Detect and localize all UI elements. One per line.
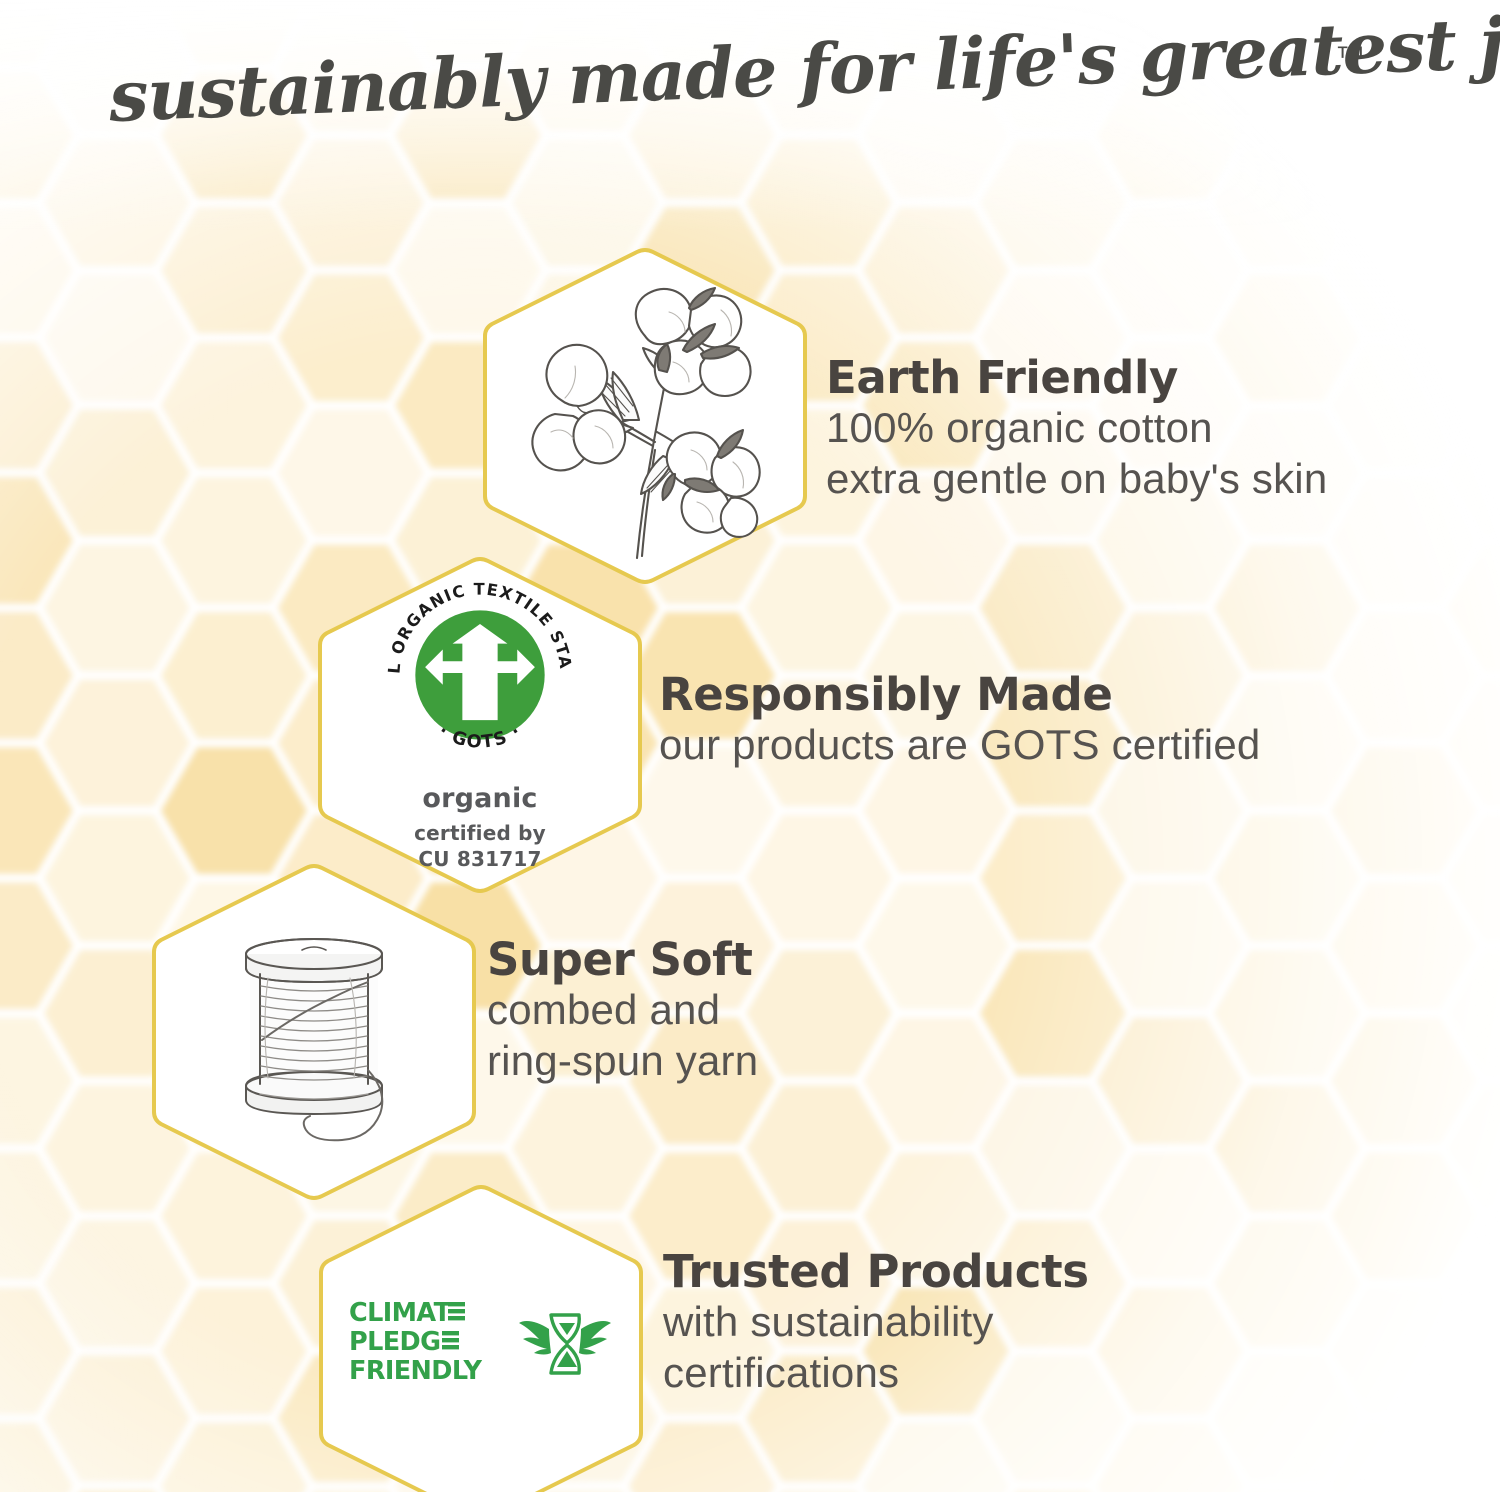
feature-line: our products are GOTS certified	[659, 720, 1260, 770]
cpf-line-3: FRIENDLY	[349, 1356, 483, 1386]
feature-line: ring-spun yarn	[487, 1036, 758, 1086]
winged-hourglass-icon	[517, 1305, 613, 1383]
cpf-line-2: PLEDG	[349, 1327, 440, 1357]
sustainability-infographic: sustainably made for life's greatest joy…	[0, 0, 1500, 1492]
feature-line: 100% organic cotton	[826, 403, 1327, 453]
feature-title: Super Soft	[487, 935, 758, 985]
feature-hexagon-earth-friendly	[477, 246, 813, 586]
feature-line: extra gentle on baby's skin	[826, 454, 1327, 504]
feature-title: Trusted Products	[663, 1247, 1089, 1297]
feature-title: Responsibly Made	[659, 670, 1260, 720]
gots-certification-icon: GLOBAL ORGANIC TEXTILE STANDARD · GOTS ·…	[382, 577, 578, 872]
feature-text-earth-friendly: Earth Friendly 100% organic cotton extra…	[826, 353, 1327, 504]
climate-pledge-friendly-icon: CLIMAT PLEDG FRIENDLY	[349, 1296, 613, 1392]
gots-certified-by-line: certified by	[414, 821, 546, 845]
feature-line: combed and	[487, 985, 758, 1035]
feature-text-super-soft: Super Soft combed and ring-spun yarn	[487, 935, 758, 1086]
feature-hexagon-responsibly-made: GLOBAL ORGANIC TEXTILE STANDARD · GOTS ·…	[312, 555, 648, 895]
feature-title: Earth Friendly	[826, 353, 1327, 403]
gots-organic-label: organic	[422, 783, 537, 814]
feature-line: with sustainability	[663, 1297, 1089, 1347]
thread-spool-sketch-icon	[146, 862, 482, 1202]
feature-line: certifications	[663, 1348, 1089, 1398]
cotton-plant-sketch-icon	[477, 246, 813, 586]
cpf-line-1: CLIMAT	[349, 1298, 452, 1328]
tagline: sustainably made for life's greatest joy…	[0, 38, 1500, 158]
feature-text-responsibly-made: Responsibly Made our products are GOTS c…	[659, 670, 1260, 771]
trademark-symbol: ™	[1335, 41, 1365, 74]
feature-hexagon-trusted-products: CLIMAT PLEDG FRIENDLY	[313, 1183, 649, 1492]
feature-hexagon-super-soft	[146, 862, 482, 1202]
feature-text-trusted-products: Trusted Products with sustainability cer…	[663, 1247, 1089, 1398]
